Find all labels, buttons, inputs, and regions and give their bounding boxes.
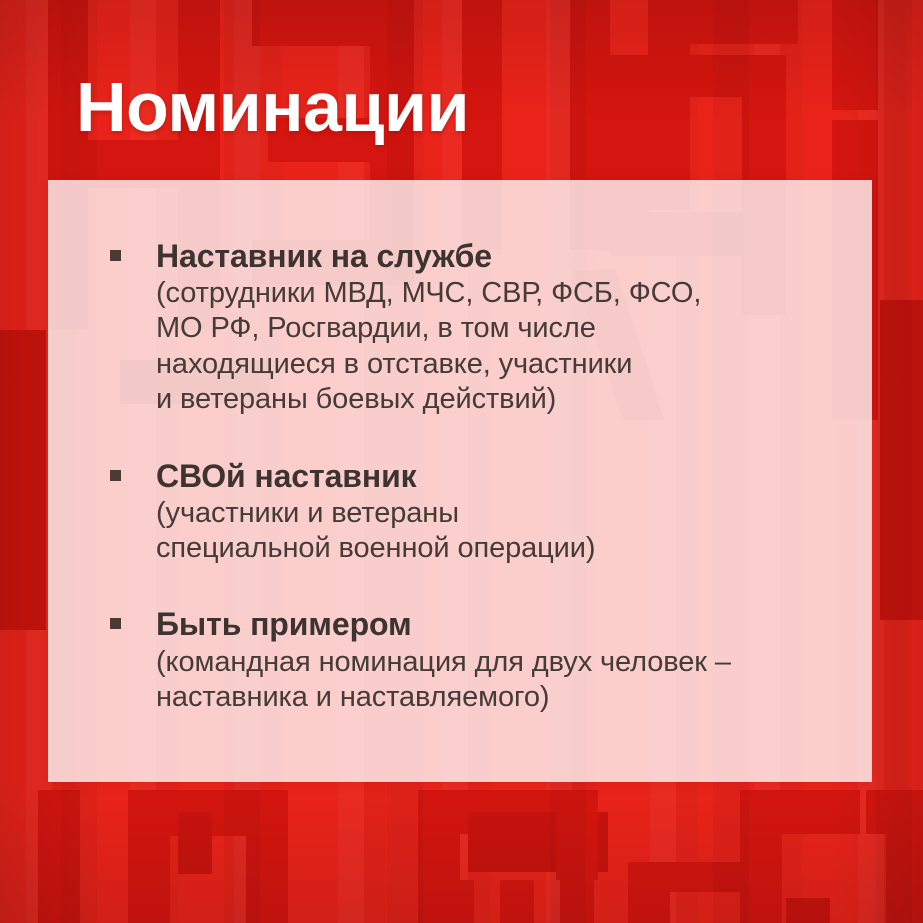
bg-glyph-mid-1 bbox=[0, 330, 46, 630]
bg-glyph-lower-12 bbox=[740, 790, 860, 834]
bg-glyph-lower-11 bbox=[560, 880, 594, 923]
nomination-body: Наставник на службе (сотрудники МВД, МЧС… bbox=[156, 238, 832, 418]
square-bullet-icon bbox=[110, 250, 121, 261]
bg-glyph-p-right bbox=[832, 0, 878, 110]
bg-glyph-z bbox=[252, 0, 412, 46]
bg-glyph-lower-4 bbox=[178, 812, 212, 874]
nomination-body: Быть примером (командная номинация для д… bbox=[156, 606, 832, 715]
square-bullet-icon bbox=[110, 618, 121, 629]
nominations-card: Наставник на службе (сотрудники МВД, МЧС… bbox=[48, 180, 872, 782]
nomination-description: (командная номинация для двух человек – … bbox=[156, 645, 832, 716]
nomination-item: Быть примером (командная номинация для д… bbox=[110, 606, 832, 715]
bg-glyph-lower-14 bbox=[628, 862, 670, 923]
bg-glyph-lower-2 bbox=[128, 790, 170, 923]
bg-glyph-s bbox=[648, 0, 798, 44]
bg-glyph-lower-10 bbox=[500, 880, 534, 923]
bg-glyph-lower-9 bbox=[440, 880, 474, 923]
square-bullet-icon bbox=[110, 470, 121, 481]
nomination-item: Наставник на службе (сотрудники МВД, МЧС… bbox=[110, 238, 832, 418]
bg-glyph-lower-1 bbox=[128, 790, 288, 836]
bg-glyph-ya-bowl bbox=[610, 55, 750, 97]
bg-glyph-lower-5 bbox=[418, 790, 460, 923]
bg-glyph-mid-3 bbox=[880, 300, 923, 620]
bg-glyph-lower-n bbox=[38, 790, 80, 923]
nomination-title: Быть примером bbox=[156, 606, 832, 643]
nomination-body: СВОй наставник (участники и ветераны спе… bbox=[156, 458, 832, 567]
nomination-title: Наставник на службе bbox=[156, 238, 832, 275]
nomination-title: СВОй наставник bbox=[156, 458, 832, 495]
bg-glyph-lower-18 bbox=[886, 834, 923, 923]
bg-glyph-s-stem bbox=[648, 0, 690, 210]
nomination-description: (участники и ветераны специальной военно… bbox=[156, 496, 832, 567]
bg-glyph-lower-17 bbox=[866, 790, 923, 834]
nomination-description: (сотрудники МВД, МЧС, СВР, ФСБ, ФСО, МО … bbox=[156, 276, 832, 418]
bg-glyph-lower-8 bbox=[556, 790, 598, 880]
bg-glyph-lower-13 bbox=[740, 834, 782, 923]
page-title: Номинации bbox=[76, 72, 469, 142]
poster: Номинации Наставник на службе (сотрудник… bbox=[0, 0, 923, 923]
nomination-item: СВОй наставник (участники и ветераны спе… bbox=[110, 458, 832, 567]
bg-glyph-lower-16 bbox=[786, 898, 830, 923]
bg-glyph-lower-3 bbox=[246, 790, 288, 923]
bg-glyph-lower-7 bbox=[468, 812, 608, 872]
bg-glyph-lower-6 bbox=[418, 790, 598, 834]
bg-glyph-lower-15 bbox=[628, 862, 758, 892]
